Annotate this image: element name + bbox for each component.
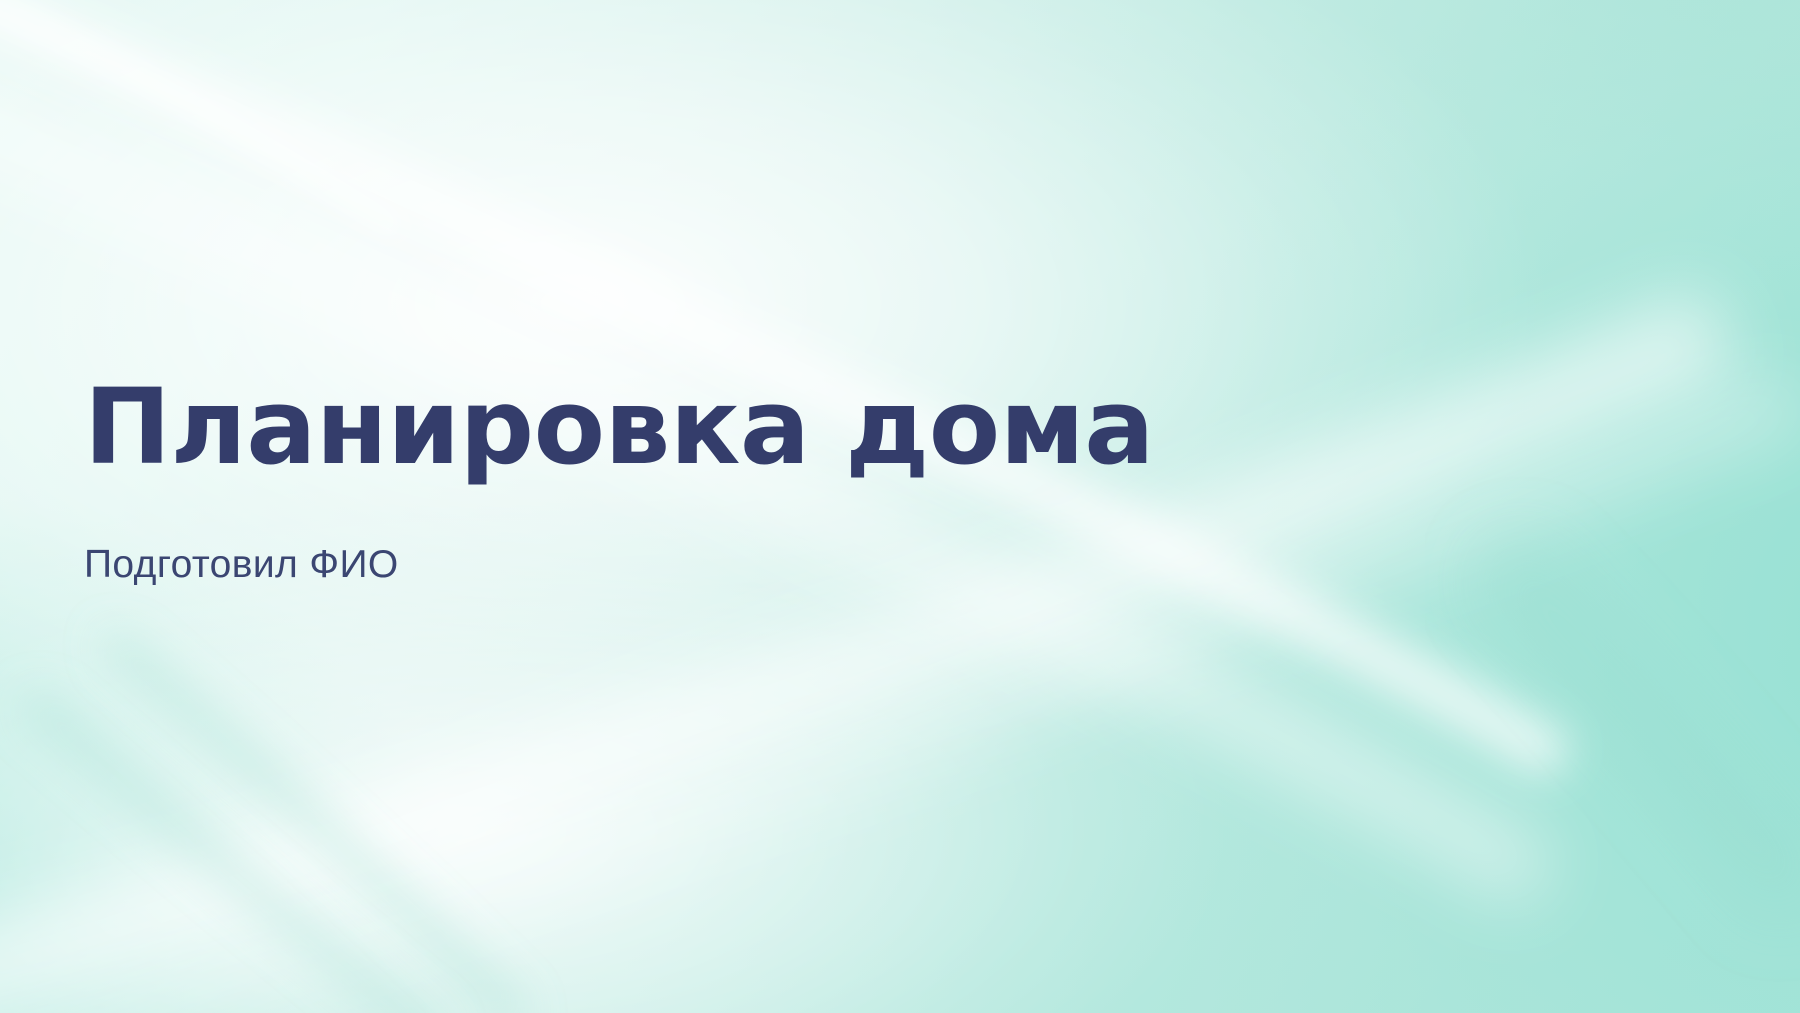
- title-slide: Планировка дома Подготовил ФИО: [0, 0, 1800, 1013]
- slide-subtitle-author: Подготовил ФИО: [84, 482, 1334, 587]
- page-title: Планировка дома: [84, 372, 1334, 482]
- title-block: Планировка дома Подготовил ФИО: [84, 372, 1334, 587]
- wave-crease-right: [1500, 560, 1800, 900]
- wave-crease-1: [110, 640, 520, 1013]
- wave-crease-2: [30, 700, 440, 1013]
- wave-streak-top: [0, 0, 400, 230]
